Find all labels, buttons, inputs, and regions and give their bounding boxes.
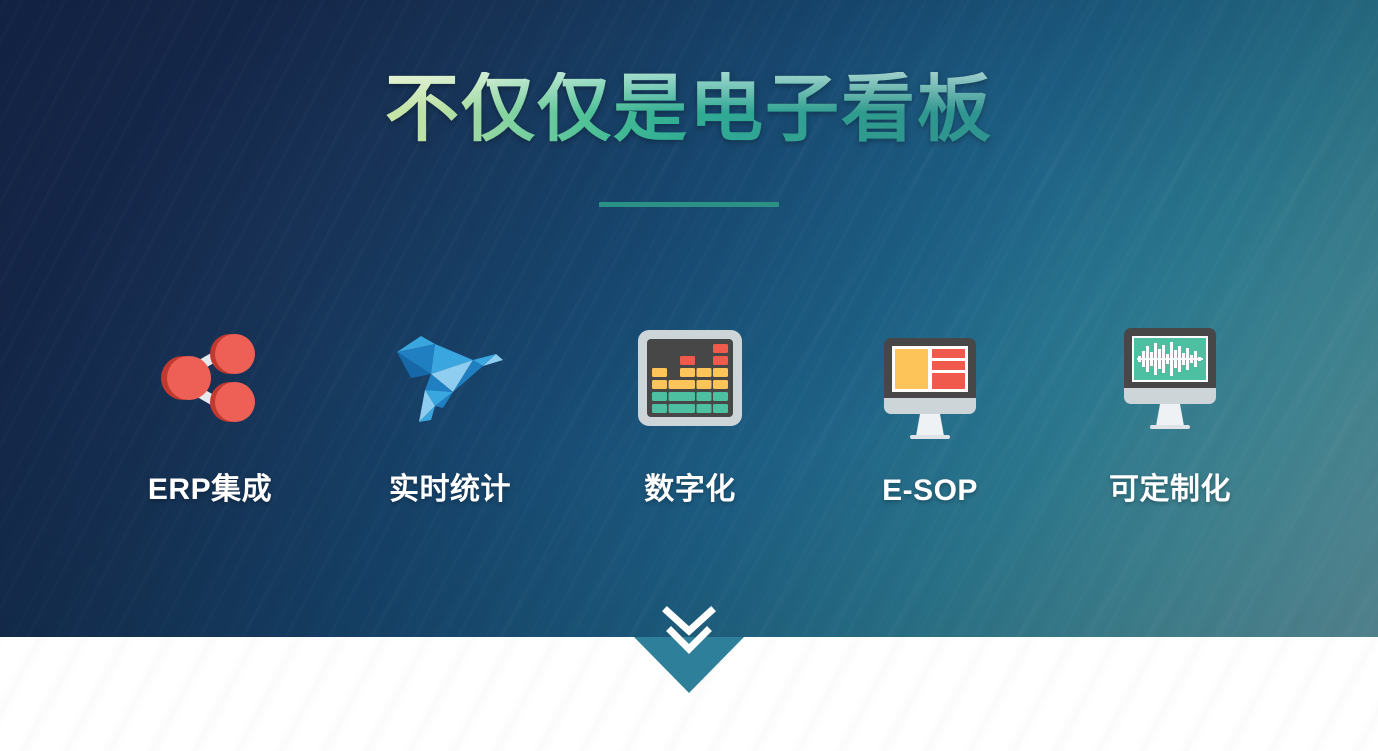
- title-divider: [599, 202, 779, 207]
- feature-label: 可定制化: [1070, 464, 1270, 508]
- page-root: 不仅仅是电子看板: [0, 0, 1378, 751]
- feature-label: E-SOP: [830, 474, 1030, 508]
- feature-list: ERP集成: [110, 318, 1270, 508]
- feature-label: 实时统计: [350, 464, 550, 508]
- feature-icon-wrap: [110, 318, 310, 438]
- monitor-waveform-icon: [1118, 322, 1222, 434]
- monitor-layout-icon: [878, 332, 982, 444]
- feature-icon-wrap: [350, 318, 550, 438]
- feature-icon-wrap: [830, 328, 1030, 448]
- hero-banner: 不仅仅是电子看板: [0, 0, 1378, 637]
- feature-item-e-sop[interactable]: E-SOP: [830, 328, 1030, 508]
- feature-icon-wrap: [1070, 318, 1270, 438]
- equalizer-board-icon: [638, 330, 742, 426]
- feature-item-digitalization[interactable]: 数字化: [590, 318, 790, 508]
- feature-item-customizable[interactable]: 可定制化: [1070, 318, 1270, 508]
- scroll-down-arrow[interactable]: [634, 637, 744, 693]
- share-nodes-icon: [158, 326, 262, 430]
- feature-label: ERP集成: [110, 464, 310, 508]
- feature-item-erp[interactable]: ERP集成: [110, 318, 310, 508]
- hero-title-block: 不仅仅是电子看板: [0, 72, 1378, 207]
- feature-label: 数字化: [590, 464, 790, 508]
- origami-bird-icon: [391, 330, 509, 426]
- feature-item-realtime-stats[interactable]: 实时统计: [350, 318, 550, 508]
- page-title: 不仅仅是电子看板: [385, 72, 993, 146]
- feature-icon-wrap: [590, 318, 790, 438]
